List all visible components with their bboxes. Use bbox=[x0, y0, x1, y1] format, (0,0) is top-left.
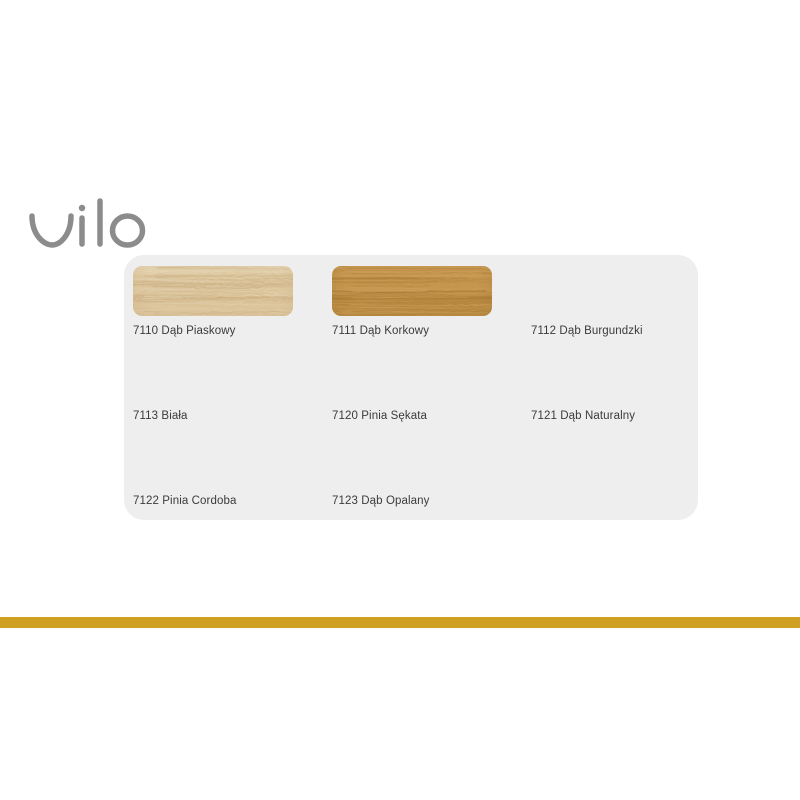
swatch-item-7120[interactable]: 7120 Pinia Sękata bbox=[332, 351, 492, 436]
swatch-texture bbox=[531, 266, 691, 316]
swatch-texture bbox=[133, 266, 293, 316]
swatch-chip-7123[interactable] bbox=[332, 436, 492, 486]
swatch-label-7110: 7110 Dąb Piaskowy bbox=[133, 324, 293, 338]
swatch-item-7122[interactable]: 7122 Pinia Cordoba bbox=[133, 436, 293, 514]
vilo-wordmark-icon bbox=[26, 196, 146, 251]
swatch-texture bbox=[332, 266, 492, 316]
letter-o-icon bbox=[113, 216, 143, 245]
swatch-item-7113[interactable]: 7113 Biała bbox=[133, 351, 293, 436]
swatch-texture bbox=[133, 351, 293, 401]
swatch-texture bbox=[133, 436, 293, 486]
swatch-grid: 7110 Dąb Piaskowy 7111 Dąb Korkowy 7112 … bbox=[133, 266, 695, 514]
swatch-label-7121: 7121 Dąb Naturalny bbox=[531, 409, 691, 423]
swatch-item-7111[interactable]: 7111 Dąb Korkowy bbox=[332, 266, 492, 351]
swatch-item-7121[interactable]: 7121 Dąb Naturalny bbox=[531, 351, 691, 436]
letter-i-dot-icon bbox=[79, 205, 86, 212]
swatch-label-7111: 7111 Dąb Korkowy bbox=[332, 324, 492, 338]
brand-logo bbox=[26, 196, 146, 254]
swatch-label-7122: 7122 Pinia Cordoba bbox=[133, 494, 293, 508]
swatch-chip-7113[interactable] bbox=[133, 351, 293, 401]
swatch-item-7123[interactable]: 7123 Dąb Opalany bbox=[332, 436, 492, 514]
swatch-texture bbox=[531, 351, 691, 401]
swatch-label-7112: 7112 Dąb Burgundzki bbox=[531, 324, 691, 338]
swatch-chip-7111[interactable] bbox=[332, 266, 492, 316]
swatch-item-7110[interactable]: 7110 Dąb Piaskowy bbox=[133, 266, 293, 351]
swatch-chip-7122[interactable] bbox=[133, 436, 293, 486]
swatch-label-7123: 7123 Dąb Opalany bbox=[332, 494, 492, 508]
swatch-item-7112[interactable]: 7112 Dąb Burgundzki bbox=[531, 266, 691, 351]
swatch-chip-7120[interactable] bbox=[332, 351, 492, 401]
swatch-chip-7121[interactable] bbox=[531, 351, 691, 401]
swatch-chip-7110[interactable] bbox=[133, 266, 293, 316]
swatch-chip-7112[interactable] bbox=[531, 266, 691, 316]
swatch-texture bbox=[332, 351, 492, 401]
swatch-texture bbox=[332, 436, 492, 486]
swatch-label-7113: 7113 Biała bbox=[133, 409, 293, 423]
swatch-label-7120: 7120 Pinia Sękata bbox=[332, 409, 492, 423]
bottom-accent-bar bbox=[0, 617, 800, 628]
